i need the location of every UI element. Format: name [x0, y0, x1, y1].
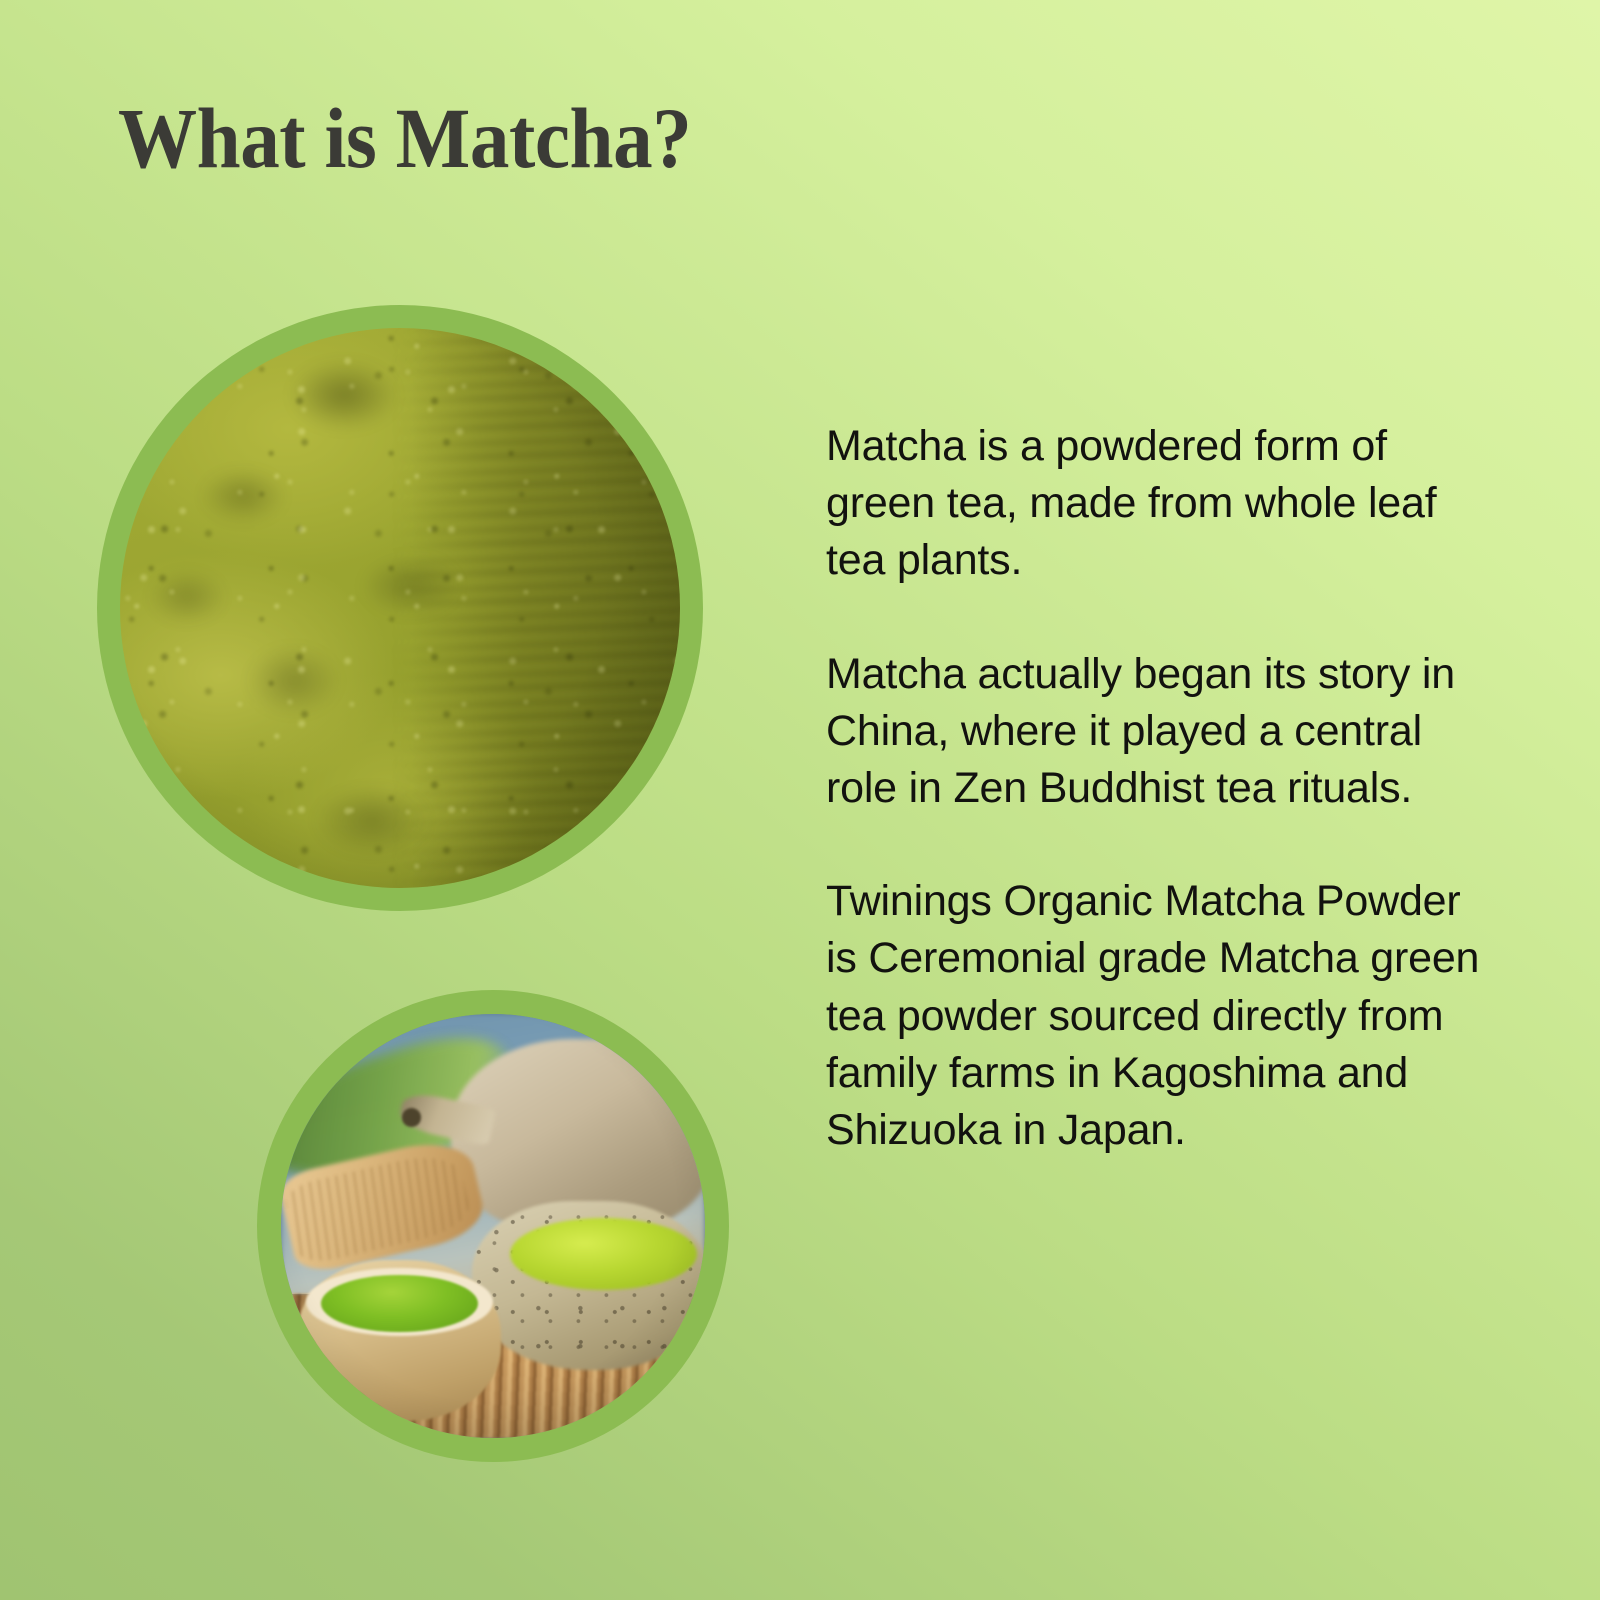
matcha-ceremony-photo-inner	[281, 1014, 705, 1438]
ceremony-scene	[281, 1014, 705, 1438]
matcha-powder-photo-inner	[120, 328, 680, 888]
ceremony-vignette	[281, 1014, 705, 1438]
paragraph-product-info: Twinings Organic Matcha Powder is Ceremo…	[826, 873, 1486, 1159]
paragraph-definition: Matcha is a powdered form of green tea, …	[826, 418, 1486, 590]
body-copy: Matcha is a powdered form of green tea, …	[826, 418, 1486, 1159]
matcha-powder-photo	[97, 305, 703, 911]
matcha-ceremony-photo	[257, 990, 729, 1462]
powder-vignette	[120, 328, 680, 888]
page-title: What is Matcha?	[118, 95, 691, 181]
paragraph-history: Matcha actually began its story in China…	[826, 646, 1486, 818]
matcha-info-poster: What is Matcha?	[0, 0, 1600, 1600]
